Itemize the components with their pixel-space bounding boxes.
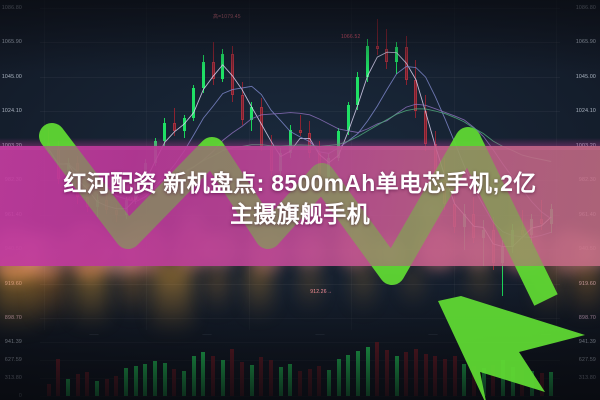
light-streak: [120, 268, 144, 318]
promo-title-line-1: 红河配资 新机盘点: 8500mAh单电芯手机;2亿: [0, 168, 600, 199]
light-streak: [300, 268, 320, 312]
promo-title-line-2: 主摄旗舰手机: [0, 199, 600, 230]
light-streak: [152, 262, 192, 334]
light-streak: [206, 268, 228, 314]
light-streak: [352, 266, 374, 314]
light-streak: [74, 262, 108, 328]
light-streak: [404, 268, 422, 308]
light-streak: [572, 266, 600, 318]
light-streak: [536, 264, 562, 316]
promo-title: 红河配资 新机盘点: 8500mAh单电芯手机;2亿 主摄旗舰手机: [0, 168, 600, 231]
stock-chart-promo-image: 1086.801065.901045.001024.101003.20982.3…: [0, 0, 600, 400]
light-streak: [0, 262, 40, 332]
light-streak: [246, 264, 272, 320]
light-streak: [470, 266, 490, 310]
light-streak: [36, 266, 66, 324]
